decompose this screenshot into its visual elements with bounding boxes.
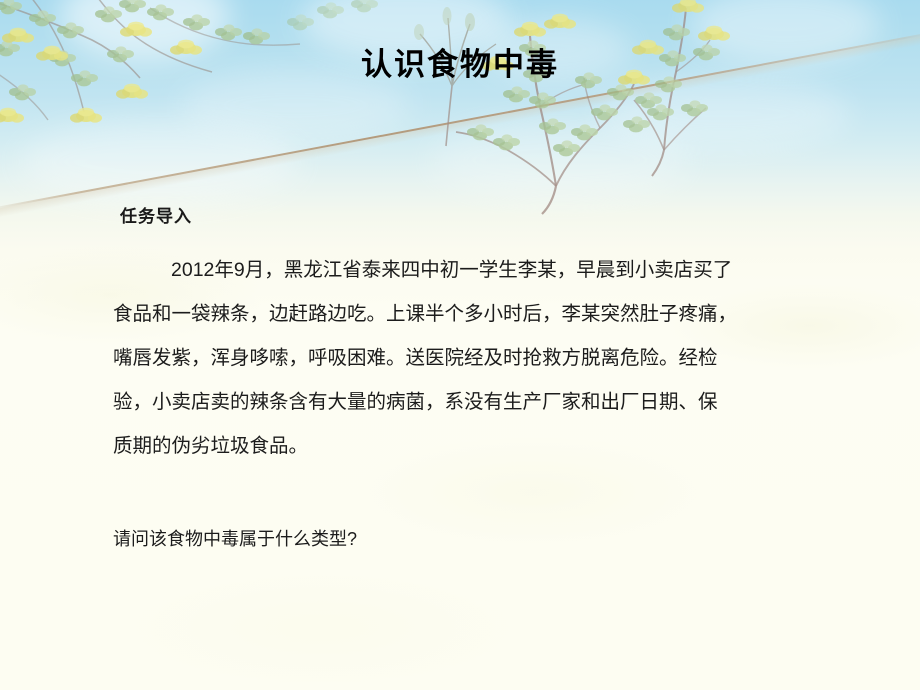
slide-canvas: 认识食物中毒 任务导入 2012年9月，黑龙江省泰来四中初一学生李某，早晨到小卖… (0, 0, 920, 690)
page-title: 认识食物中毒 (0, 48, 920, 82)
body-line-1-text: 2012年9月，黑龙江省泰来四中初一学生李某，早晨到小卖店买了 (171, 259, 732, 281)
body-line-4: 验，小卖店卖的辣条含有大量的病菌，系没有生产厂家和出厂日期、保 (113, 380, 843, 424)
body-line-2: 食品和一袋辣条，边赶路边吃。上课半个多小时后，李某突然肚子疼痛， (113, 292, 843, 336)
section-heading-task-intro: 任务导入 (120, 202, 192, 227)
body-line-3: 嘴唇发紫，浑身哆嗦，呼吸困难。送医院经及时抢救方脱离危险。经检 (113, 336, 843, 380)
body-line-1: 2012年9月，黑龙江省泰来四中初一学生李某，早晨到小卖店买了 (113, 248, 843, 292)
body-line-5: 质期的伪劣垃圾食品。 (113, 424, 843, 468)
question-prompt: 请问该食物中毒属于什么类型? (113, 525, 357, 551)
body-paragraph: 2012年9月，黑龙江省泰来四中初一学生李某，早晨到小卖店买了 食品和一袋辣条，… (113, 248, 843, 468)
